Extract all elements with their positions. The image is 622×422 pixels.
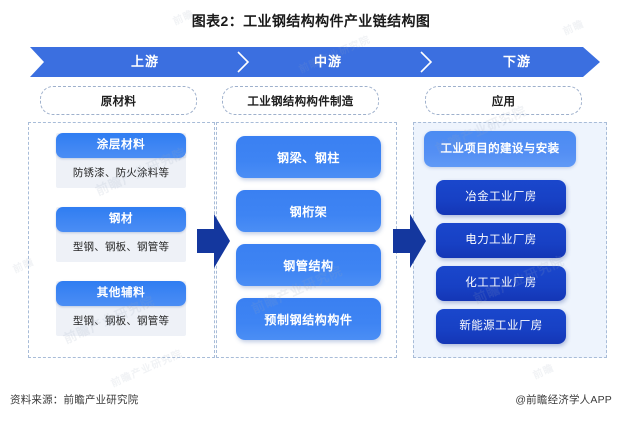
stage-label-manufacturing: 工业钢结构构件制造 [222, 86, 379, 115]
upstream-group-header: 其他辅料 [56, 281, 186, 306]
upstream-group-detail: 防锈漆、防火涂料等 [56, 158, 186, 188]
downstream-header: 工业项目的建设与安装 [424, 131, 576, 167]
stage-label-raw-materials: 原材料 [40, 86, 197, 115]
midstream-item: 钢桁架 [236, 190, 381, 232]
arrow-right-icon [197, 212, 231, 270]
source-note: 资料来源：前瞻产业研究院 [10, 392, 138, 407]
upstream-group: 钢材 型钢、钢板、钢管等 [56, 207, 186, 262]
watermark-text: 前瞻 [530, 359, 556, 382]
downstream-item: 电力工业厂房 [436, 223, 566, 258]
upstream-group-detail: 型钢、钢板、钢管等 [56, 306, 186, 336]
upstream-group-header: 涂层材料 [56, 133, 186, 158]
midstream-item: 预制钢结构构件 [236, 298, 381, 340]
upstream-group-header: 钢材 [56, 207, 186, 232]
stage-banner: 上游 中游 下游 [30, 47, 600, 77]
stage-label-application: 应用 [425, 86, 582, 115]
arrow-right-icon [393, 212, 427, 270]
downstream-item: 新能源工业厂房 [436, 309, 566, 344]
banner-segment-midstream: 中游 [258, 47, 398, 77]
upstream-group: 涂层材料 防锈漆、防火涂料等 [56, 133, 186, 188]
chevron-right-icon [420, 51, 433, 73]
downstream-item: 化工工业厂房 [436, 266, 566, 301]
midstream-item: 钢管结构 [236, 244, 381, 286]
upstream-group-detail: 型钢、钢板、钢管等 [56, 232, 186, 262]
banner-segment-upstream: 上游 [70, 47, 220, 77]
upstream-group: 其他辅料 型钢、钢板、钢管等 [56, 281, 186, 336]
midstream-item: 钢梁、钢柱 [236, 136, 381, 178]
downstream-item: 冶金工业厂房 [436, 180, 566, 215]
page-title: 图表2：工业钢结构构件产业链结构图 [0, 11, 622, 31]
banner-segment-downstream: 下游 [442, 47, 592, 77]
chevron-right-icon [237, 51, 250, 73]
app-attribution: @前瞻经济学人APP [515, 392, 612, 407]
